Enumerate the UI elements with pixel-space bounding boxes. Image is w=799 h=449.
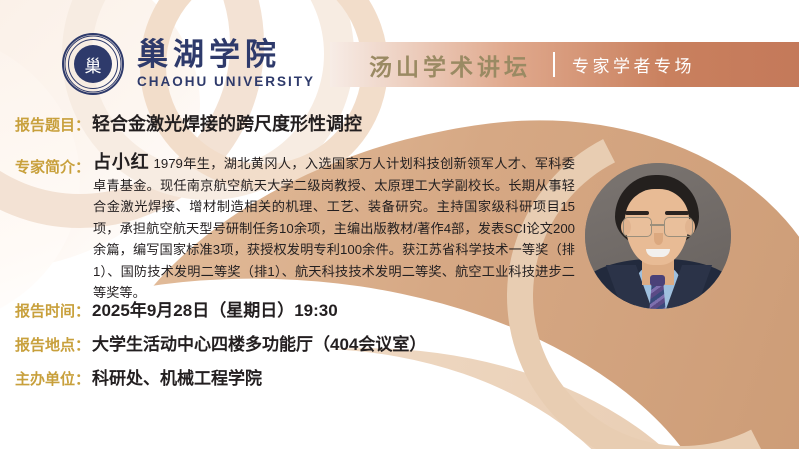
report-title-row: 报告题目： 轻合金激光焊接的跨尺度形性调控	[15, 110, 362, 136]
speaker-bio-body: 占小红 1979年生，湖北黄冈人，入选国家万人计划科技创新领军人才、军科委卓青基…	[93, 152, 575, 304]
speaker-bio-row: 专家简介： 占小红 1979年生，湖北黄冈人，入选国家万人计划科技创新领军人才、…	[15, 152, 575, 304]
speaker-bio-label: 专家简介：	[15, 152, 90, 177]
report-host-label: 主办单位：	[15, 368, 90, 389]
report-host-row: 主办单位： 科研处、机械工程学院	[15, 364, 262, 389]
report-place-row: 报告地点： 大学生活动中心四楼多功能厅（404会议室）	[15, 330, 426, 355]
report-title-label: 报告题目：	[15, 114, 90, 135]
speaker-bio-text: 1979年生，湖北黄冈人，入选国家万人计划科技创新领军人才、军科委卓青基金。现任…	[93, 156, 575, 300]
portrait-eyebrow-left	[625, 211, 649, 215]
portrait-tie-knot	[650, 275, 665, 286]
report-time-value: 2025年9月28日（星期日）19:30	[92, 296, 338, 321]
lecture-poster: 巢 巢湖学院 CHAOHU UNIVERSITY 汤山学术讲坛 专家学者专场 报…	[0, 0, 799, 449]
report-time-label: 报告时间：	[15, 300, 90, 321]
portrait-eyebrow-right	[665, 211, 689, 215]
report-place-label: 报告地点：	[15, 334, 90, 355]
speaker-name: 占小红	[93, 152, 150, 172]
report-host-value: 科研处、机械工程学院	[92, 364, 262, 389]
portrait-glasses-icon	[623, 217, 691, 235]
report-place-value: 大学生活动中心四楼多功能厅（404会议室）	[92, 330, 426, 355]
report-time-row: 报告时间： 2025年9月28日（星期日）19:30	[15, 296, 338, 321]
speaker-portrait	[585, 163, 731, 309]
report-title-value: 轻合金激光焊接的跨尺度形性调控	[92, 110, 362, 136]
